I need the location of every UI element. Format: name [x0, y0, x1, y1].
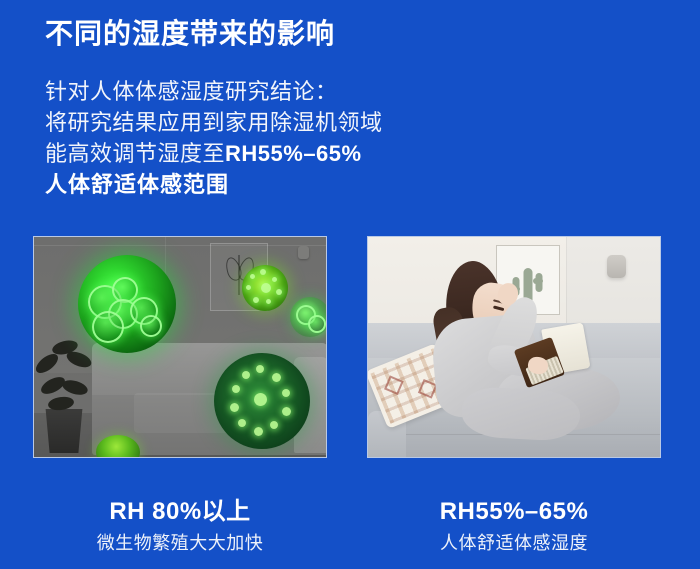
microbe-cell [92, 311, 124, 343]
microbe-cell [308, 315, 326, 333]
microbe-spike [250, 274, 255, 279]
caption-comfort-humidity: RH55%–65% 人体舒适体感湿度 [367, 498, 661, 554]
microbe-cell [140, 315, 162, 337]
microbe-spike [242, 371, 250, 379]
body-copy: 针对人体体感湿度研究结论： 将研究结果应用到家用除湿机领域 能高效调节湿度至RH… [45, 76, 383, 200]
caption-title-left: RH 80%以上 [33, 498, 327, 526]
microbe-spike [232, 385, 240, 393]
photo-comfort-humidity [367, 236, 661, 458]
plant-leaf [61, 378, 90, 398]
microbe-spike [246, 285, 251, 290]
microbe-core [261, 283, 271, 293]
body-line-3-prefix: 能高效调节湿度至 [45, 141, 225, 166]
microbe-spike [270, 421, 278, 429]
twig-artwork-icon [239, 255, 240, 296]
microbe-spike [230, 403, 239, 412]
page-title: 不同的湿度带来的影响 [45, 16, 335, 51]
body-line-1: 针对人体体感湿度研究结论： [45, 76, 383, 107]
plant-pot [44, 409, 84, 453]
microbe-spike [266, 299, 271, 304]
body-line-3: 能高效调节湿度至RH55%–65% [45, 138, 383, 169]
microbe-spike [260, 269, 266, 275]
body-line-2: 将研究结果应用到家用除湿机领域 [45, 107, 383, 138]
microbe-spike [238, 419, 246, 427]
microbe-core [254, 393, 267, 406]
humidity-comparison-poster: 不同的湿度带来的影响 针对人体体感湿度研究结论： 将研究结果应用到家用除湿机领域… [0, 0, 700, 569]
microbe-spike [276, 289, 282, 295]
microbe-spike [272, 277, 277, 282]
microbe-spike [282, 407, 291, 416]
microbe-orb-edge [290, 297, 327, 337]
light-room-scene [368, 237, 660, 457]
caption-sub-left: 微生物繁殖大大加快 [33, 533, 327, 555]
microbe-orb-small [242, 265, 288, 311]
dark-room-scene [34, 237, 326, 457]
eye [493, 305, 504, 311]
microbe-spike [272, 373, 281, 382]
body-line-4: 人体舒适体感范围 [45, 169, 383, 200]
woman-reading-figure [410, 261, 620, 441]
microbe-orb-bottom [214, 353, 310, 449]
photo-high-humidity [33, 236, 327, 458]
body-line-3-highlight: RH55%–65% [225, 141, 362, 166]
photo-comparison-row [0, 236, 700, 458]
dark-potted-plant [36, 323, 96, 453]
caption-high-humidity: RH 80%以上 微生物繁殖大大加快 [33, 498, 327, 554]
microbe-spike [254, 427, 263, 436]
wall-device-icon [298, 246, 309, 259]
microbe-orb-large [78, 255, 176, 353]
caption-sub-right: 人体舒适体感湿度 [367, 533, 661, 555]
plant-leaf [65, 349, 94, 371]
microbe-spike [256, 365, 264, 373]
wall-seam-line [34, 245, 326, 246]
microbe-spike [253, 297, 259, 303]
caption-title-right: RH55%–65% [367, 498, 661, 526]
microbe-spike [282, 389, 290, 397]
